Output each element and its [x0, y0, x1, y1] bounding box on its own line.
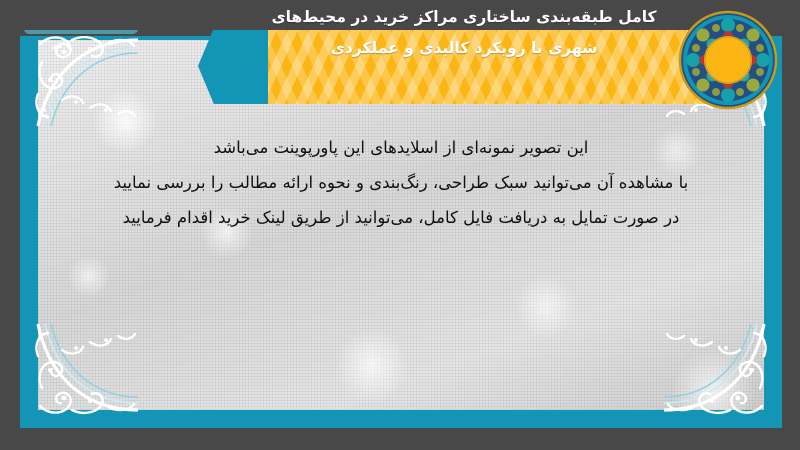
slide-viewer: این تصویر نمونه‌ای از اسلایدهای این پاور…	[0, 0, 800, 450]
slide-title: کامل طبقه‌بندی ساختاری مراکز خرید در محی…	[254, 2, 674, 64]
body-line-3: در صورت تمایل به دریافت فایل کامل، می‌تو…	[46, 200, 756, 235]
slide-body-text: این تصویر نمونه‌ای از اسلایدهای این پاور…	[20, 130, 782, 235]
body-line-1: این تصویر نمونه‌ای از اسلایدهای این پاور…	[46, 130, 756, 165]
body-line-2: با مشاهده آن می‌توانید سبک طراحی، رنگ‌بن…	[46, 165, 756, 200]
islamic-medallion-icon	[676, 8, 780, 112]
